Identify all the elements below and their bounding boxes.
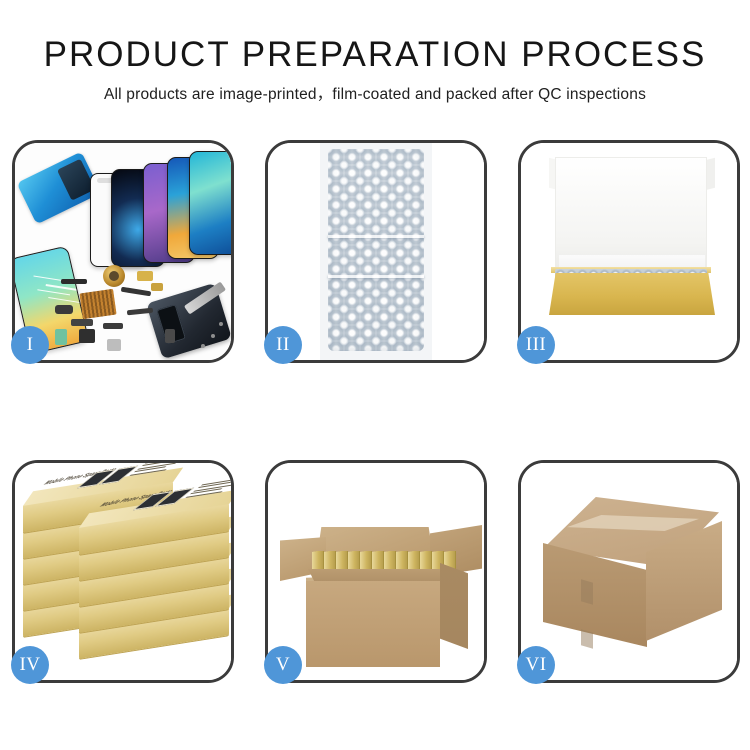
spare-part-icon [79,329,95,343]
step-card-1: I [12,140,234,363]
spare-part-icon [103,323,123,329]
spare-part-icon [151,283,163,291]
chip-part-icon [79,289,116,319]
lcd-film-icon [17,152,102,225]
bubble-wrap-illustration [268,143,484,360]
step-card-2: II [265,140,487,363]
step-image-5 [268,463,484,680]
step-badge-1: I [11,326,49,364]
spare-part-icon [137,271,153,281]
coil-part-icon [103,265,125,287]
product-preparation-infographic: PRODUCT PREPARATION PROCESS All products… [0,0,750,750]
step-badge-3: III [517,326,555,364]
carton-side [440,563,468,649]
sealed-carton-illustration [521,463,737,680]
carton-body [306,581,440,667]
step-image-3 [521,143,737,360]
step-image-2 [268,143,484,360]
step-image-6 [521,463,737,680]
step-badge-2: II [264,326,302,364]
spare-part-icon [71,319,93,326]
inner-box-illustration [521,143,737,360]
step-card-4: Mobile Phone Spare Parts [12,460,234,683]
process-steps-grid: I II [12,140,738,685]
spare-part-icon [121,287,151,297]
packing-tape-icon [581,579,593,604]
phone-screen-icon [189,151,231,255]
spare-part-icon [55,305,73,314]
spare-part-icon [107,339,121,351]
step-card-5: V [265,460,487,683]
step-badge-4: IV [11,646,49,684]
screw-icon [219,322,223,326]
bubble-wrap-icon [328,149,424,351]
step-image-4: Mobile Phone Spare Parts [15,463,231,680]
screw-icon [201,344,205,348]
stacked-boxes-illustration: Mobile Phone Spare Parts [15,463,231,680]
spare-part-icon [165,329,175,343]
phone-parts-illustration [15,143,231,360]
packing-tape-icon [581,629,593,648]
step-badge-5: V [264,646,302,684]
step-image-1 [15,143,231,360]
step-card-6: VI [518,460,740,683]
step-card-3: III [518,140,740,363]
wrap-seam [328,235,424,238]
spare-part-icon [61,279,87,284]
carton-filling-illustration [268,463,484,680]
wrap-seam [328,275,424,278]
screw-icon [211,334,215,338]
page-title: PRODUCT PREPARATION PROCESS [0,34,750,76]
kraft-box-body [549,273,715,315]
page-subtitle: All products are image-printed，film-coat… [0,85,750,105]
step-badge-6: VI [517,646,555,684]
spare-part-icon [55,329,67,345]
header: PRODUCT PREPARATION PROCESS All products… [0,34,750,105]
box-stack: Mobile Phone Spare Parts [23,479,229,669]
